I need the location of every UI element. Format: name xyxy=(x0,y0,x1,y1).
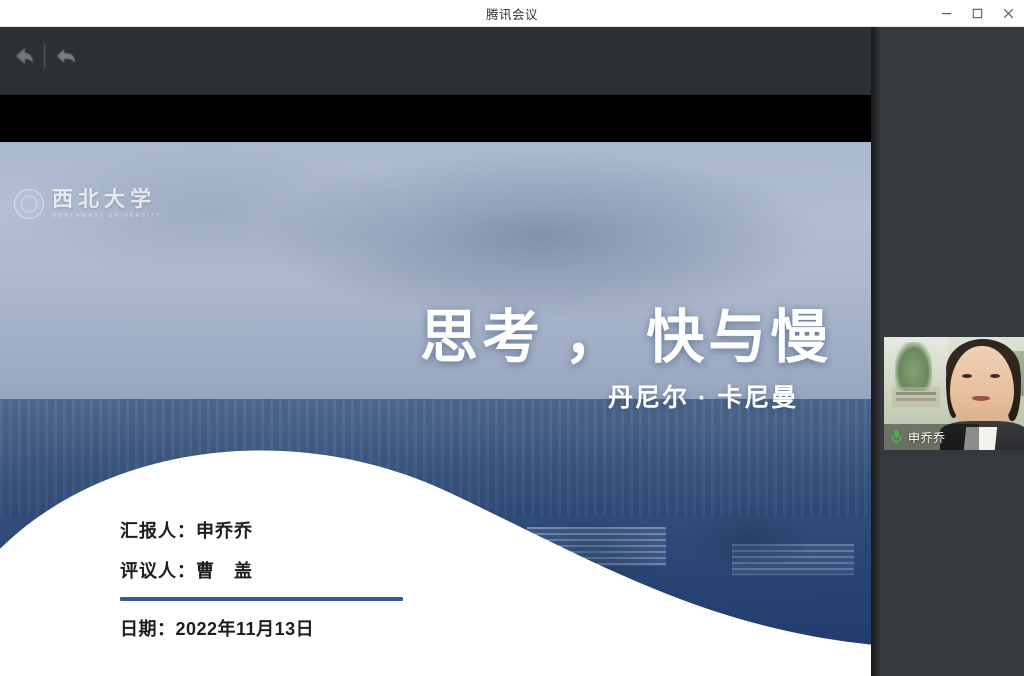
slide-meta-block: 汇报人：申乔乔 评议人：曹 盖 日期：2022年11月13日 xyxy=(120,517,410,641)
minimize-button[interactable] xyxy=(931,0,962,27)
building-shape xyxy=(732,544,854,575)
toolbar-divider xyxy=(44,43,45,69)
participant-face xyxy=(950,346,1014,430)
window-controls xyxy=(931,0,1024,27)
date-line: 日期：2022年11月13日 xyxy=(120,615,410,641)
video-background-foliage xyxy=(895,342,931,392)
undo-arrow-icon xyxy=(54,45,78,67)
video-background-sign xyxy=(892,387,940,407)
building-shape xyxy=(479,555,540,583)
share-letterbox-top xyxy=(0,95,871,142)
close-button[interactable] xyxy=(993,0,1024,27)
maximize-icon xyxy=(972,8,983,19)
undo-arrow-button[interactable] xyxy=(49,39,83,73)
annotation-toolbar xyxy=(0,27,871,95)
presentation-slide: 西北大学 NORTHWEST UNIVERSITY 思考 ， 快与慢 丹尼尔 ·… xyxy=(0,142,871,676)
university-seal-icon xyxy=(14,189,44,219)
window-title: 腾讯会议 xyxy=(486,4,538,23)
window-titlebar: 腾讯会议 xyxy=(0,0,1024,27)
maximize-button[interactable] xyxy=(962,0,993,27)
participant-video-tile[interactable]: 申乔乔 xyxy=(884,337,1024,450)
participant-name: 申乔乔 xyxy=(908,429,946,446)
slide-subtitle-author: 丹尼尔 · 卡尼曼 xyxy=(608,378,798,414)
meeting-body: 西北大学 NORTHWEST UNIVERSITY 思考 ， 快与慢 丹尼尔 ·… xyxy=(0,27,1024,676)
close-icon xyxy=(1003,8,1014,19)
presenter-line: 汇报人：申乔乔 xyxy=(120,517,410,543)
university-logo-text: 西北大学 NORTHWEST UNIVERSITY xyxy=(52,188,162,219)
university-name-en: NORTHWEST UNIVERSITY xyxy=(52,213,162,219)
back-arrow-button[interactable] xyxy=(6,39,40,73)
minimize-icon xyxy=(941,8,952,19)
meta-divider xyxy=(120,597,403,601)
microphone-on-icon[interactable] xyxy=(890,429,903,445)
participants-rail: 申乔乔 xyxy=(871,27,1024,676)
back-arrow-icon xyxy=(11,45,35,67)
slide-title: 思考 ， 快与慢 xyxy=(420,290,832,374)
annotation-tool-group xyxy=(6,39,83,73)
university-logo: 西北大学 NORTHWEST UNIVERSITY xyxy=(14,188,162,219)
building-shape xyxy=(527,527,666,566)
commentator-line: 评议人：曹 盖 xyxy=(120,557,410,583)
shared-screen-region: 西北大学 NORTHWEST UNIVERSITY 思考 ， 快与慢 丹尼尔 ·… xyxy=(0,27,871,676)
tencent-meeting-window: 腾讯会议 xyxy=(0,0,1024,676)
university-name-cn: 西北大学 xyxy=(52,188,162,210)
participant-name-bar: 申乔乔 xyxy=(884,424,979,450)
